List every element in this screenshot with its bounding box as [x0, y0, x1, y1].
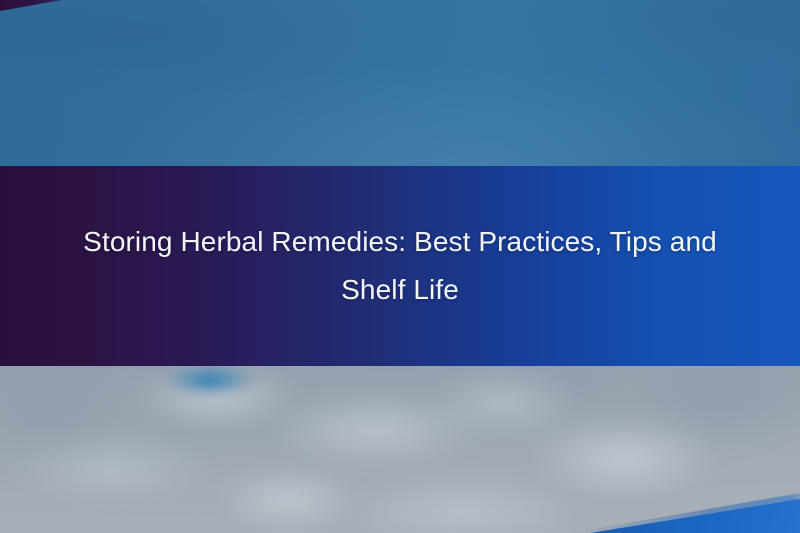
sky-haze-layer [0, 0, 800, 168]
page-title: Storing Herbal Remedies: Best Practices,… [50, 218, 750, 314]
cloud-background [0, 366, 800, 533]
sky-patch-through-clouds [150, 366, 270, 400]
hero-banner: Storing Herbal Remedies: Best Practices,… [0, 0, 800, 533]
title-overlay-band: Storing Herbal Remedies: Best Practices,… [0, 166, 800, 366]
sky-background [0, 0, 800, 168]
cloud-texture-layer [0, 366, 800, 533]
